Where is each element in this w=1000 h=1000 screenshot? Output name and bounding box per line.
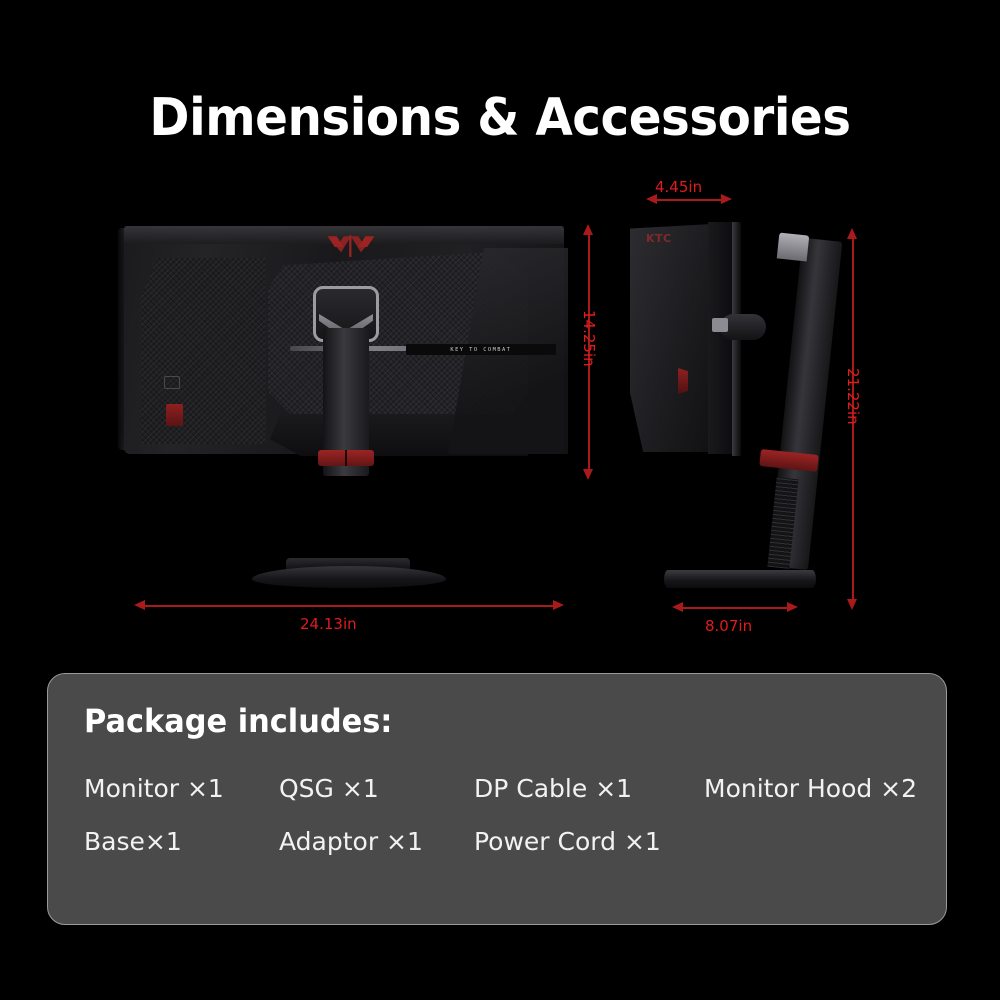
side-stand-arm-cap xyxy=(777,233,810,262)
dimension-screen-height-label: 14.25in xyxy=(580,310,598,367)
dimension-width-arrow xyxy=(134,598,564,612)
side-rear-shell xyxy=(630,224,712,452)
package-item: Monitor Hood ×2 xyxy=(704,774,917,803)
package-item: QSG ×1 xyxy=(279,774,474,803)
package-item: DP Cable ×1 xyxy=(474,774,704,803)
rear-port-icon xyxy=(164,376,180,389)
package-includes-panel: Package includes: Monitor ×1 QSG ×1 DP C… xyxy=(47,673,947,925)
rear-carbon-panel-left xyxy=(140,258,266,444)
arrowhead-left xyxy=(134,600,145,610)
rear-tagline-band: KEY TO COMBAT xyxy=(406,344,556,355)
arrowhead-right xyxy=(553,600,564,610)
dimension-width-label: 24.13in xyxy=(300,615,357,633)
package-row: Base×1 Adaptor ×1 Power Cord ×1 xyxy=(84,827,922,856)
stand-red-accent xyxy=(318,450,374,466)
package-item: Monitor ×1 xyxy=(84,774,279,803)
side-red-accent xyxy=(678,368,688,394)
arrowhead-left xyxy=(672,602,683,612)
dimension-base-depth-label: 8.07in xyxy=(705,617,752,635)
arrowhead-down xyxy=(583,469,593,480)
rear-tagline-text: KEY TO COMBAT xyxy=(450,346,511,352)
package-row: Monitor ×1 QSG ×1 DP Cable ×1 Monitor Ho… xyxy=(84,774,922,803)
arrowhead-up xyxy=(847,228,857,239)
side-stand-base xyxy=(664,570,816,588)
ktc-brand-text: KTC xyxy=(646,232,672,245)
side-hinge-cap xyxy=(712,318,728,332)
page-title: Dimensions & Accessories xyxy=(35,88,965,148)
arrowhead-right xyxy=(787,602,798,612)
arrowhead-up xyxy=(583,224,593,235)
package-heading: Package includes: xyxy=(84,702,392,740)
rear-red-accent-chip xyxy=(166,404,183,426)
package-item: Power Cord ×1 xyxy=(474,827,704,856)
arrowhead-right xyxy=(721,194,732,204)
dimension-total-height-label: 21.22in xyxy=(844,368,862,425)
arrowhead-down xyxy=(847,599,857,610)
monitor-rear-view: KEY TO COMBAT xyxy=(118,218,588,598)
dimension-depth-label: 4.45in xyxy=(655,178,702,196)
monitor-side-view: KTC xyxy=(620,218,850,598)
ktc-gaming-logo-icon xyxy=(324,234,378,260)
package-item-list: Monitor ×1 QSG ×1 DP Cable ×1 Monitor Ho… xyxy=(84,774,922,880)
product-spec-graphic: Dimensions & Accessories KEY TO COMBAT xyxy=(0,0,1000,1000)
package-item: Adaptor ×1 xyxy=(279,827,474,856)
stand-base xyxy=(252,566,446,588)
package-item: Base×1 xyxy=(84,827,279,856)
dimension-base-depth-arrow xyxy=(672,600,798,614)
